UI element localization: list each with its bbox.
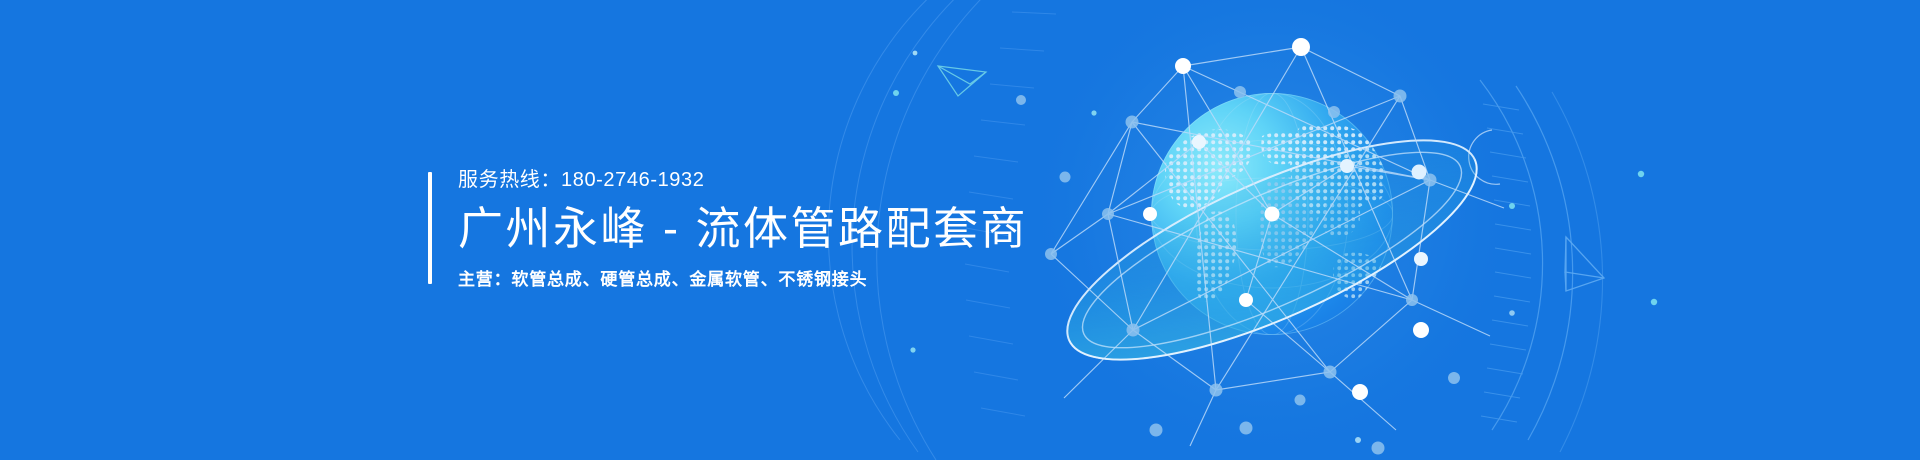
headline-block: 服务热线：180-2746-1932 广州永峰 - 流体管路配套商 主营：软管总…: [428, 160, 1028, 288]
network-nodes: [1143, 38, 1429, 400]
globe-illustration: [1151, 93, 1393, 335]
orbit-ring-front: [1069, 160, 1502, 403]
page-title: 广州永峰 - 流体管路配套商: [458, 204, 1028, 254]
product-subtitle: 主营：软管总成、硬管总成、金属软管、不锈钢接头: [458, 271, 1028, 288]
orbit-ring: [1042, 98, 1503, 403]
network-mesh: [1051, 47, 1504, 446]
small-wire-triangle: [938, 66, 986, 96]
hero-banner: 服务热线：180-2746-1932 广州永峰 - 流体管路配套商 主营：软管总…: [0, 0, 1920, 460]
network-nodes-dim: [1016, 86, 1460, 455]
text-column: 服务热线：180-2746-1932 广州永峰 - 流体管路配套商 主营：软管总…: [432, 160, 1028, 288]
radar-tick-arc: [1469, 80, 1603, 452]
wireframe-pyramid: [1565, 237, 1604, 291]
service-hotline: 服务热线：180-2746-1932: [458, 170, 1028, 190]
